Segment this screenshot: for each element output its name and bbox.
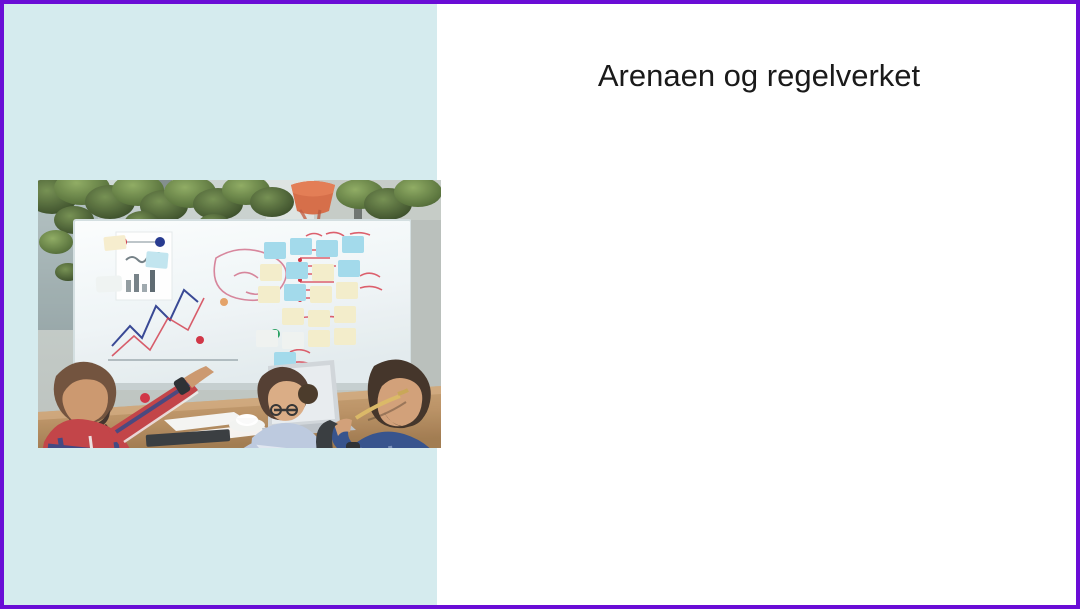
page-title: Arenaen og regelverket	[459, 56, 1059, 96]
meeting-room-photo	[38, 180, 441, 448]
slide: Arenaen og regelverket	[0, 0, 1080, 609]
